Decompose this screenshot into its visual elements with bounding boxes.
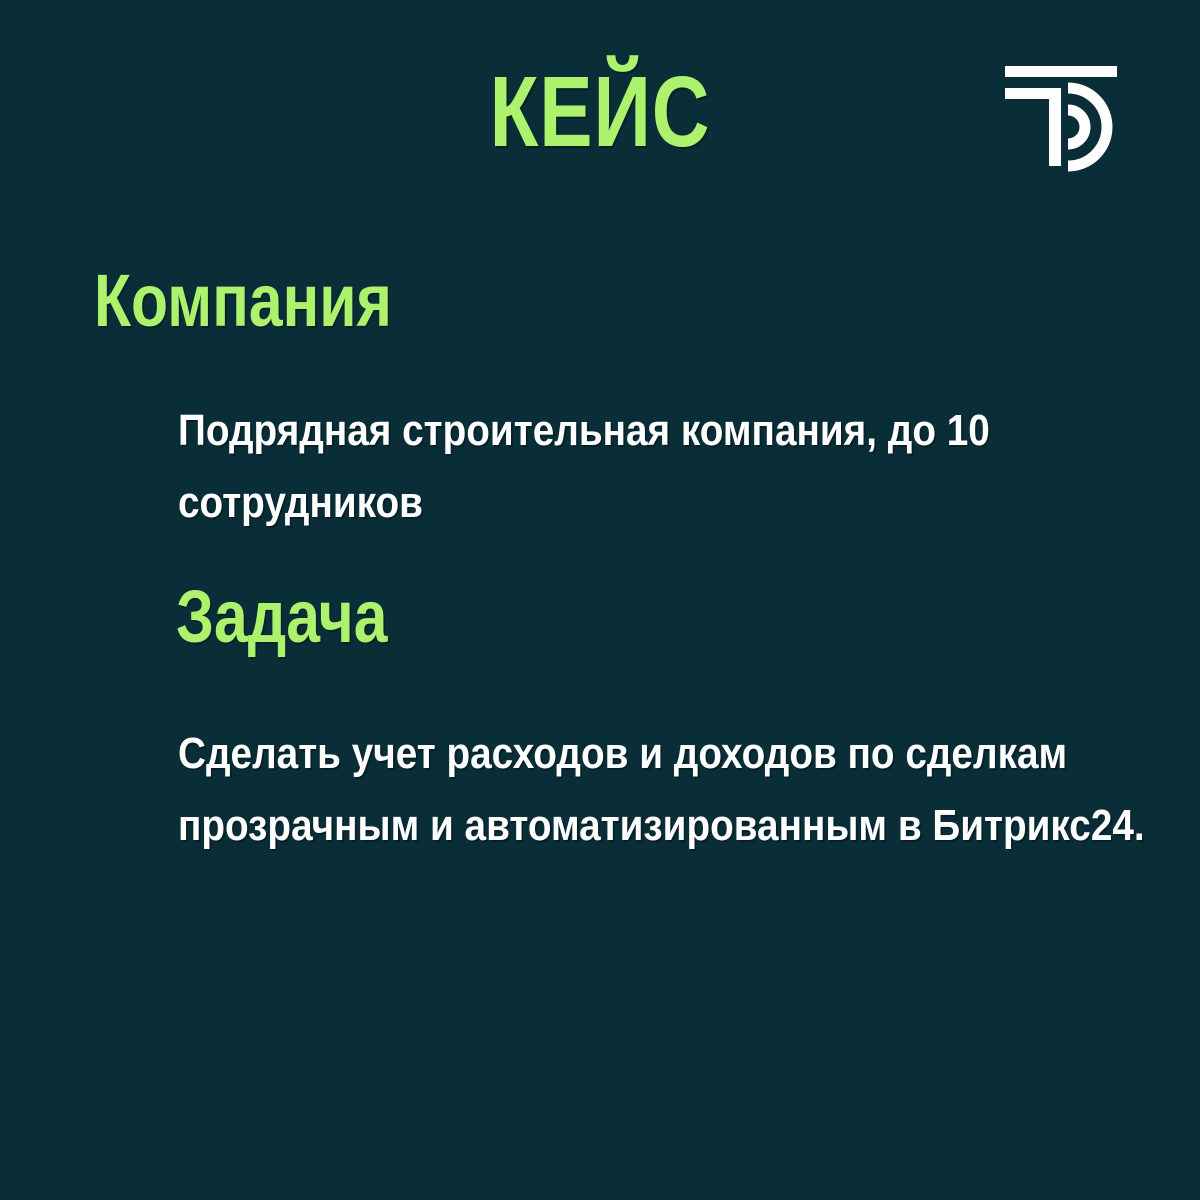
case-slide: КЕЙС Компания Подрядная строительная ком… <box>0 0 1200 1200</box>
section-heading-task: Задача <box>176 578 387 656</box>
body-line: прозрачным и автоматизированным в Битрик… <box>178 790 1200 862</box>
slide-header: КЕЙС <box>0 0 1200 200</box>
brand-logo-icon <box>1000 58 1122 174</box>
body-line: сотрудников <box>178 467 1111 539</box>
section-heading-company: Компания <box>94 262 392 340</box>
body-line: Сделать учет расходов и доходов по сделк… <box>178 718 1200 790</box>
page-title: КЕЙС <box>120 60 1080 164</box>
section-body-task: Сделать учет расходов и доходов по сделк… <box>178 718 1200 862</box>
body-line: Подрядная строительная компания, до 10 <box>178 395 1111 467</box>
brand-logo <box>1000 58 1122 174</box>
section-body-company: Подрядная строительная компания, до 10 с… <box>178 395 1111 539</box>
